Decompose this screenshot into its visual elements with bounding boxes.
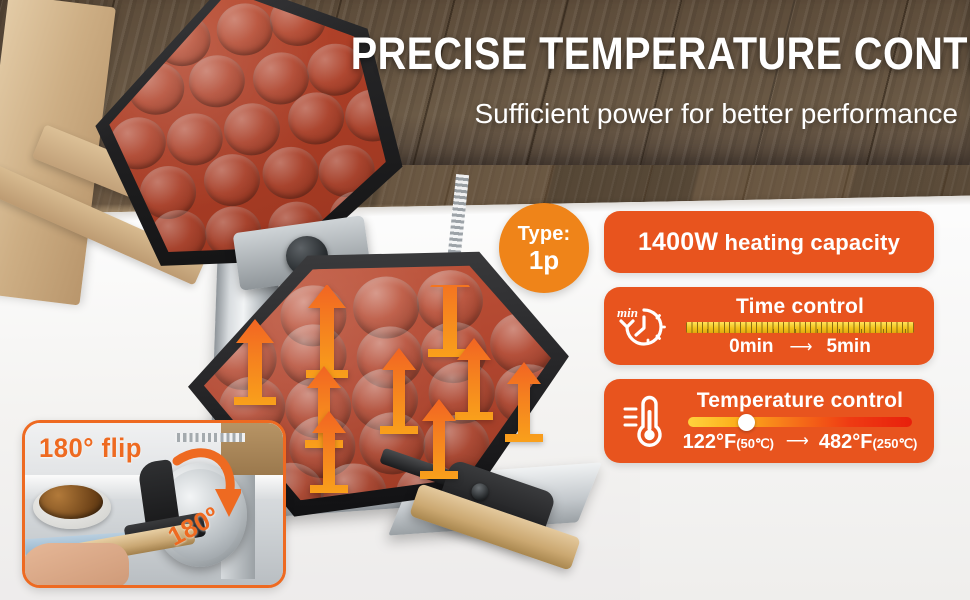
time-min-value: 0min [729, 336, 773, 358]
power-value: 1400W [638, 228, 718, 256]
time-range-row: 0min ⟶ 5min [680, 336, 920, 358]
temp-min-c: (50℃) [736, 436, 774, 451]
temp-min-group: 122°F(50℃) [683, 431, 774, 454]
power-card-text: 1400W heating capacity [638, 228, 900, 257]
type-badge-value: 1p [529, 246, 559, 274]
temp-max-f: 482°F [819, 431, 873, 453]
bubble-cavity [213, 0, 275, 58]
flip-label: 180° flip [39, 433, 142, 464]
time-card-title: Time control [680, 295, 920, 318]
product-feature-banner: PRECISE TEMPERATURE CONTROL Sufficient p… [0, 0, 970, 600]
inset-hand [22, 543, 129, 587]
power-label: heating capacity [724, 230, 900, 255]
clock-icon: min [604, 300, 680, 352]
banner-headline: PRECISE TEMPERATURE CONTROL [351, 28, 958, 80]
temp-range-arrow: ⟶ [786, 431, 807, 451]
type-badge: Type: 1p [499, 203, 589, 293]
bubble-cavity [260, 144, 322, 203]
type-badge-label: Type: [518, 223, 571, 245]
temp-max-c: (250℃) [872, 436, 917, 451]
temperature-card-title: Temperature control [680, 389, 920, 412]
power-card: 1400W heating capacity [604, 211, 934, 273]
inset-bubble-waffle [39, 485, 103, 519]
temperature-gradient-slider [688, 417, 912, 427]
svg-text:min: min [617, 305, 638, 320]
time-ruler-graphic [686, 322, 914, 333]
thermometer-icon [604, 392, 680, 450]
time-max-value: 5min [826, 336, 870, 358]
banner-subheadline: Sufficient power for better performance [268, 98, 958, 130]
heat-arrows-group-3 [290, 375, 540, 535]
temp-min-f: 122°F [683, 431, 737, 453]
temp-max-group: 482°F(250℃) [819, 431, 918, 454]
time-range-arrow: ⟶ [790, 337, 811, 357]
temperature-range-row: 122°F(50℃) ⟶ 482°F(250℃) [680, 431, 920, 454]
time-control-card: min Time control 0min ⟶ 5min [604, 287, 934, 365]
flip-feature-inset: 180° flip 180º [22, 420, 286, 588]
temperature-control-card: Temperature control 122°F(50℃) ⟶ 482°F(2… [604, 379, 934, 463]
temperature-slider-knob[interactable] [738, 414, 755, 431]
